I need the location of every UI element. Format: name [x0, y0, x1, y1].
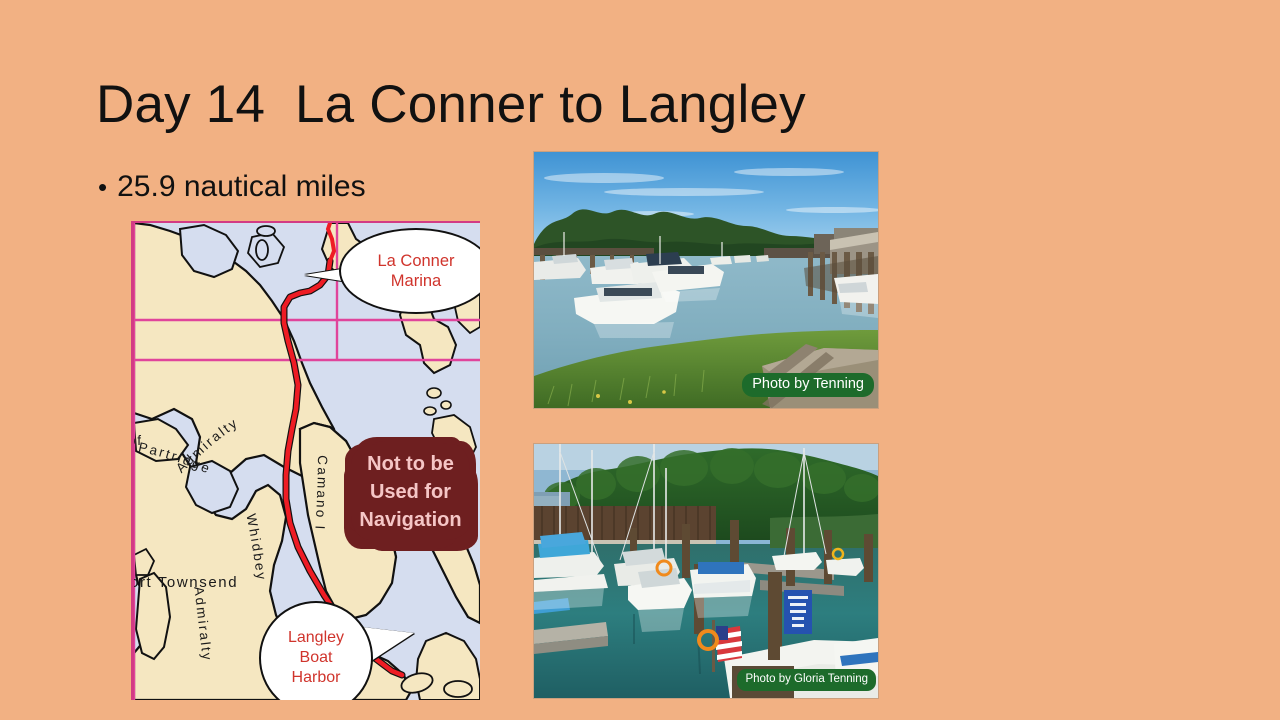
callout-line: Langley	[288, 628, 344, 648]
callout-line: La Conner	[377, 251, 454, 271]
callout-line: Boat	[300, 648, 333, 668]
bullet-marker-icon: •	[98, 168, 107, 206]
photo-credit-badge-gloria-tenning: Photo by Gloria Tenning	[737, 669, 876, 691]
photo-langley-graphic	[534, 444, 878, 698]
bullet-text: 25.9 nautical miles	[117, 168, 365, 206]
photo-langley-boat-harbor: Photo by Gloria Tenning	[533, 443, 879, 699]
photo-credit-badge-tenning: Photo by Tenning	[742, 373, 874, 397]
map-label-port-townsend: ort Townsend	[134, 574, 238, 591]
photo-la-conner-graphic	[534, 152, 878, 408]
warning-line: Used for	[370, 478, 451, 506]
bullet-item-distance: • 25.9 nautical miles	[98, 168, 498, 206]
map-callout-la-conner-marina: La Conner Marina	[339, 228, 480, 314]
warning-line: Navigation	[359, 506, 461, 534]
map-label-partridge-prefix: of	[134, 433, 143, 448]
warning-line: Not to be	[367, 450, 454, 478]
page-title: Day 14 La Conner to Langley	[96, 72, 996, 138]
nautical-chart-map: Partridge Admiralty Head Whidbey Camano …	[131, 221, 480, 700]
callout-line: Marina	[391, 271, 441, 291]
presentation-slide: Day 14 La Conner to Langley • 25.9 nauti…	[0, 0, 1280, 720]
photo-la-conner-marina: Photo by Tenning	[533, 151, 879, 409]
map-navigation-warning-badge: Not to be Used for Navigation	[351, 444, 470, 540]
callout-line: Harbor	[292, 668, 341, 688]
